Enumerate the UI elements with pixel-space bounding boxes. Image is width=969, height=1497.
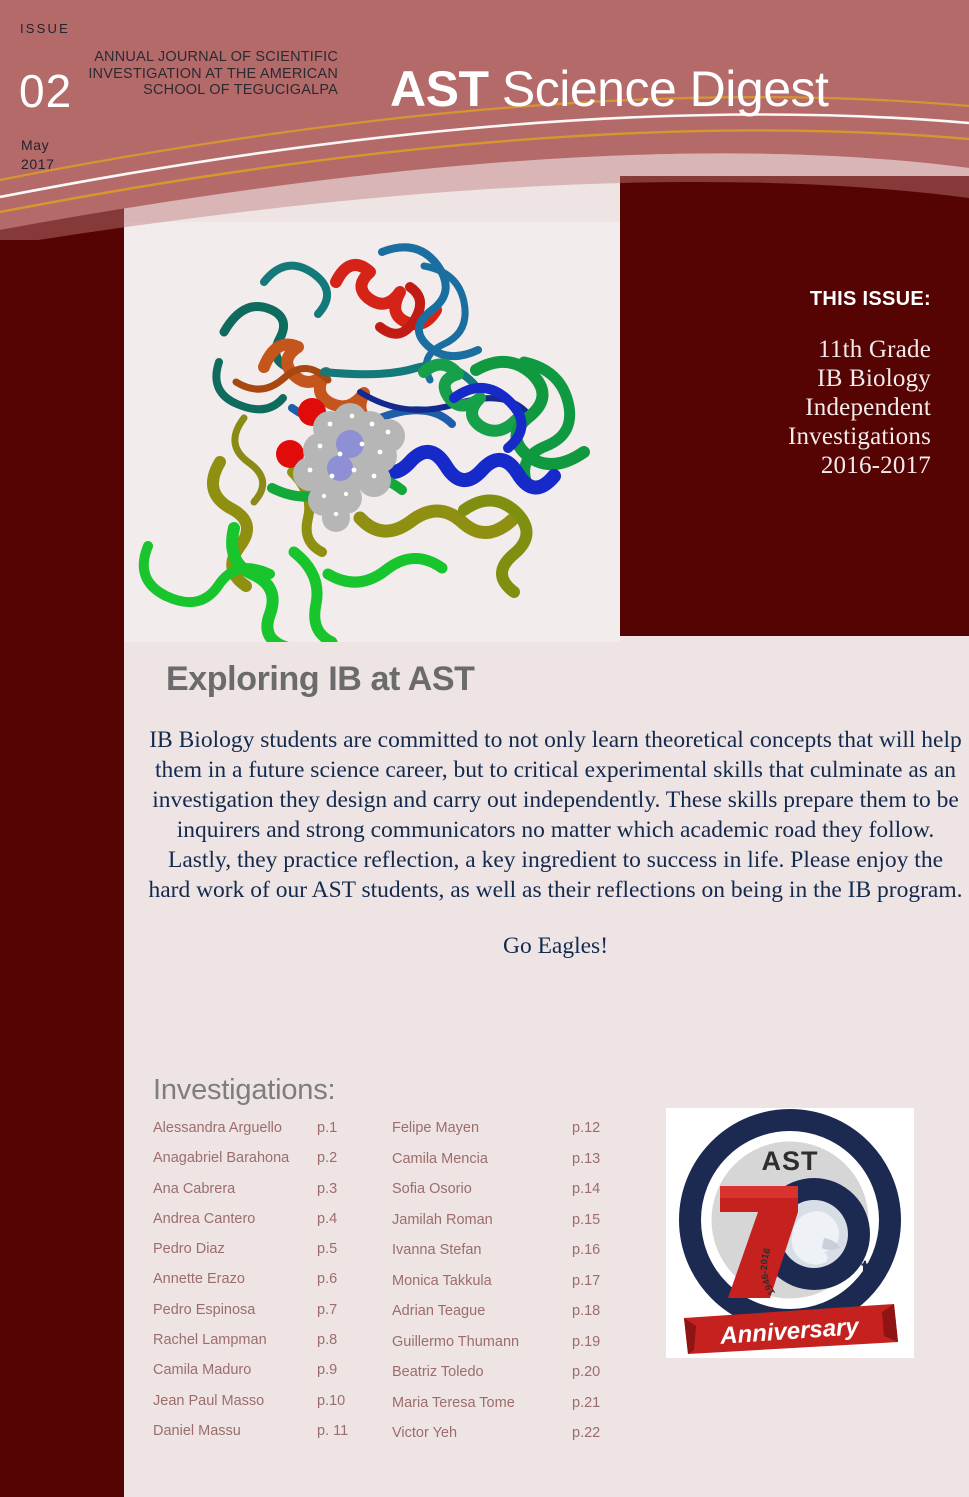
investigation-author: Pedro Diaz <box>153 1241 225 1257</box>
investigation-author: Jean Paul Masso <box>153 1393 264 1409</box>
investigation-row[interactable]: Guillermo Thumannp.19 <box>392 1334 630 1365</box>
this-issue-line-5: 2016-2017 <box>651 451 931 480</box>
investigations-heading: Investigations: <box>153 1074 335 1107</box>
investigation-row[interactable]: Camila Menciap.13 <box>392 1151 630 1182</box>
investigation-page: p.8 <box>317 1332 375 1348</box>
masthead-bold: AST <box>390 61 489 117</box>
investigation-page: p.1 <box>317 1120 375 1136</box>
journal-subtitle: ANNUAL JOURNAL OF SCIENTIFIC INVESTIGATI… <box>60 49 338 99</box>
investigation-row[interactable]: Anagabriel Barahonap.2 <box>153 1150 375 1180</box>
investigation-page: p.19 <box>572 1334 630 1350</box>
this-issue-line-3: Independent <box>651 393 931 422</box>
investigation-author: Ivanna Stefan <box>392 1242 482 1258</box>
investigation-page: p.18 <box>572 1303 630 1319</box>
logo-th-text: th <box>861 1255 883 1281</box>
investigation-page: p.2 <box>317 1150 375 1166</box>
investigation-row[interactable]: Rachel Lampmanp.8 <box>153 1332 375 1362</box>
investigation-author: Adrian Teague <box>392 1303 485 1319</box>
issue-date-month: May <box>21 136 55 155</box>
this-issue-line-1: 11th Grade <box>651 335 931 364</box>
investigation-author: Maria Teresa Tome <box>392 1395 515 1411</box>
investigation-page: p.12 <box>572 1120 630 1136</box>
investigation-author: Anagabriel Barahona <box>153 1150 289 1166</box>
masthead-title: AST Science Digest <box>390 60 828 118</box>
this-issue-line-2: IB Biology <box>651 364 931 393</box>
investigation-author: Daniel Massu <box>153 1423 241 1439</box>
investigation-author: Andrea Cantero <box>153 1211 255 1227</box>
investigation-author: Sofia Osorio <box>392 1181 472 1197</box>
protein-structure-figure <box>124 222 620 642</box>
investigation-author: Camila Maduro <box>153 1362 251 1378</box>
investigation-row[interactable]: Adrian Teaguep.18 <box>392 1303 630 1334</box>
investigation-page: p. 11 <box>317 1423 375 1439</box>
masthead-light: Science Digest <box>489 61 829 117</box>
this-issue-line-4: Investigations <box>651 422 931 451</box>
investigation-row[interactable]: Daniel Massup. 11 <box>153 1423 375 1453</box>
investigation-page: p.14 <box>572 1181 630 1197</box>
investigation-row[interactable]: Maria Teresa Tomep.21 <box>392 1395 630 1426</box>
investigation-page: p.6 <box>317 1271 375 1287</box>
investigation-page: p.13 <box>572 1151 630 1167</box>
investigations-column-right: Felipe Mayenp.12Camila Menciap.13Sofia O… <box>392 1120 630 1456</box>
investigation-author: Felipe Mayen <box>392 1120 479 1136</box>
issue-label: ISSUE <box>20 21 70 36</box>
investigation-page: p.17 <box>572 1273 630 1289</box>
left-spine-bar <box>0 150 124 1497</box>
investigation-author: Ana Cabrera <box>153 1181 235 1197</box>
investigation-row[interactable]: Beatriz Toledop.20 <box>392 1364 630 1395</box>
investigation-row[interactable]: Annette Erazop.6 <box>153 1271 375 1301</box>
article-closing: Go Eagles! <box>146 931 965 961</box>
investigation-page: p.5 <box>317 1241 375 1257</box>
this-issue-panel: THIS ISSUE: 11th Grade IB Biology Indepe… <box>620 176 969 636</box>
investigation-row[interactable]: Jamilah Romanp.15 <box>392 1212 630 1243</box>
investigation-row[interactable]: Pedro Diazp.5 <box>153 1241 375 1271</box>
investigation-page: p.22 <box>572 1425 630 1441</box>
investigations-column-left: Alessandra Arguellop.1Anagabriel Barahon… <box>153 1120 375 1453</box>
investigation-author: Camila Mencia <box>392 1151 488 1167</box>
investigation-row[interactable]: Felipe Mayenp.12 <box>392 1120 630 1151</box>
investigation-author: Pedro Espinosa <box>153 1302 255 1318</box>
investigation-row[interactable]: Ivanna Stefanp.16 <box>392 1242 630 1273</box>
investigation-row[interactable]: Monica Takkulap.17 <box>392 1273 630 1304</box>
anniversary-logo: AST th 1946-2016 Anniversary <box>666 1108 914 1358</box>
investigation-page: p.20 <box>572 1364 630 1380</box>
investigation-author: Victor Yeh <box>392 1425 457 1441</box>
investigation-row[interactable]: Pedro Espinosap.7 <box>153 1302 375 1332</box>
article-block: Exploring IB at AST IB Biology students … <box>124 660 969 961</box>
article-title: Exploring IB at AST <box>166 660 969 699</box>
investigation-author: Jamilah Roman <box>392 1212 493 1228</box>
investigation-page: p.15 <box>572 1212 630 1228</box>
this-issue-content: THIS ISSUE: 11th Grade IB Biology Indepe… <box>651 288 931 480</box>
investigation-author: Monica Takkula <box>392 1273 492 1289</box>
article-body: IB Biology students are committed to not… <box>146 725 965 905</box>
this-issue-label: THIS ISSUE: <box>651 288 931 311</box>
investigation-row[interactable]: Andrea Canterop.4 <box>153 1211 375 1241</box>
investigation-row[interactable]: Camila Madurop.9 <box>153 1362 375 1392</box>
newsletter-cover-page: THIS ISSUE: 11th Grade IB Biology Indepe… <box>0 0 969 1497</box>
investigation-author: Annette Erazo <box>153 1271 245 1287</box>
header-text: ISSUE 02 May 2017 ANNUAL JOURNAL OF SCIE… <box>0 0 969 200</box>
investigation-author: Guillermo Thumann <box>392 1334 519 1350</box>
investigation-page: p.7 <box>317 1302 375 1318</box>
investigation-author: Alessandra Arguello <box>153 1120 282 1136</box>
this-issue-lines: 11th Grade IB Biology Independent Invest… <box>651 335 931 480</box>
investigation-author: Beatriz Toledo <box>392 1364 484 1380</box>
investigation-row[interactable]: Jean Paul Massop.10 <box>153 1393 375 1423</box>
investigation-row[interactable]: Sofia Osoriop.14 <box>392 1181 630 1212</box>
investigation-page: p.10 <box>317 1393 375 1409</box>
investigation-page: p.9 <box>317 1362 375 1378</box>
issue-date-year: 2017 <box>21 155 55 174</box>
investigation-page: p.4 <box>317 1211 375 1227</box>
investigation-page: p.3 <box>317 1181 375 1197</box>
ast-70th-anniversary-icon: AST th 1946-2016 Anniversary <box>666 1108 914 1358</box>
investigation-row[interactable]: Alessandra Arguellop.1 <box>153 1120 375 1150</box>
investigation-row[interactable]: Victor Yehp.22 <box>392 1425 630 1456</box>
protein-ribbon-icon <box>124 222 620 642</box>
issue-date: May 2017 <box>21 136 55 174</box>
logo-ast-text: AST <box>762 1146 819 1176</box>
investigation-author: Rachel Lampman <box>153 1332 267 1348</box>
investigation-row[interactable]: Ana Cabrerap.3 <box>153 1181 375 1211</box>
investigation-page: p.16 <box>572 1242 630 1258</box>
investigation-page: p.21 <box>572 1395 630 1411</box>
